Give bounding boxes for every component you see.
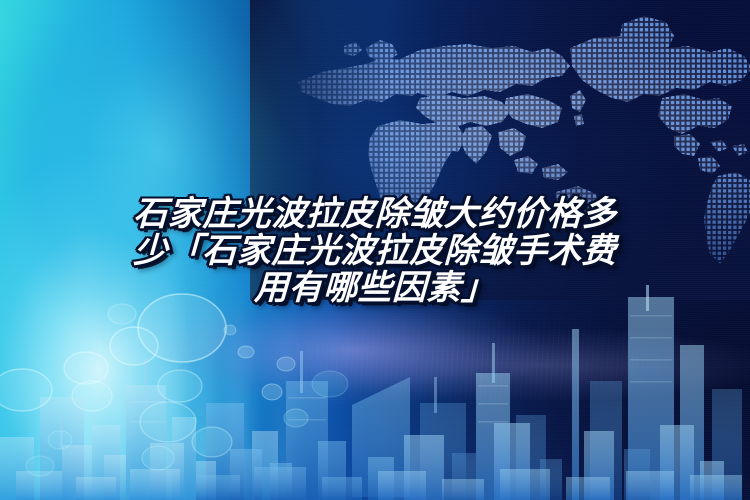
headline-block: 石家庄光波拉皮除皱大约价格多 少「石家庄光波拉皮除皱手术费 用有哪些因素」: [0, 196, 750, 307]
headline-line-2: 少「石家庄光波拉皮除皱手术费: [37, 233, 712, 270]
headline-line-1: 石家庄光波拉皮除皱大约价格多: [37, 196, 712, 233]
promo-banner: 石家庄光波拉皮除皱大约价格多 少「石家庄光波拉皮除皱手术费 用有哪些因素」: [0, 0, 750, 500]
headline-line-3: 用有哪些因素」: [37, 270, 712, 307]
bubble-particles-icon: [0, 290, 560, 500]
